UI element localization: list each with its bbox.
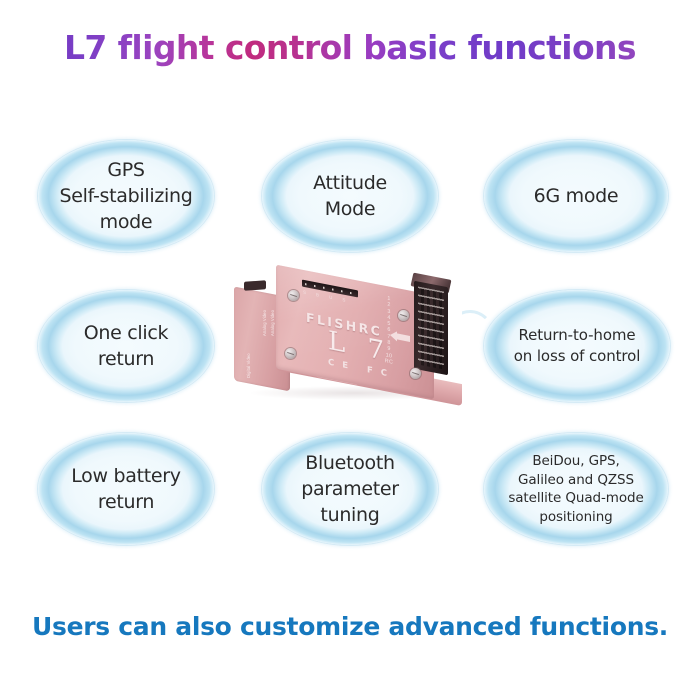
product-side-label-1: Analog Video [262,310,267,336]
feature-bubble-label: 6G mode [526,183,627,209]
product-image-flishrc-l7: Analog Video Analog Video Digital Video … [232,274,476,406]
feature-bubble-bluetooth-parameter-tuning[interactable]: Bluetooth parameter tuning [262,433,438,545]
product-side-port [244,280,266,291]
feature-bubble-return-to-home[interactable]: Return-to-home on loss of control [484,290,670,402]
product-screw [398,310,409,321]
feature-bubble-one-click-return[interactable]: One click return [38,290,214,402]
feature-bubble-label: Attitude Mode [305,170,395,222]
product-screw [285,348,296,359]
product-screw [288,290,299,301]
product-screw [410,368,421,379]
feature-bubble-label: GPS Self-stabilizing mode [52,157,201,235]
product-pin-header [414,281,448,376]
feature-bubble-attitude-mode[interactable]: Attitude Mode [262,140,438,252]
feature-bubble-6g-mode[interactable]: 6G mode [484,140,668,252]
feature-bubble-gps-self-stabilizing-mode[interactable]: GPS Self-stabilizing mode [38,140,214,252]
footer-note: Users can also customize advanced functi… [0,612,700,641]
feature-bubble-satellite-positioning[interactable]: BeiDou, GPS, Galileo and QZSS satellite … [484,433,668,545]
page-title: L7 flight control basic functions [0,26,700,70]
product-side-label-2: Analog Video [270,310,275,336]
feature-bubble-label: BeiDou, GPS, Galileo and QZSS satellite … [500,452,651,526]
feature-bubble-label: Low battery return [63,463,189,515]
feature-bubble-label: Return-to-home on loss of control [506,325,649,367]
feature-bubble-label: Bluetooth parameter tuning [293,450,407,528]
feature-bubble-label: One click return [76,320,176,372]
feature-bubble-low-battery-return[interactable]: Low battery return [38,433,214,545]
product-side-label-3: Digital Video [246,353,251,378]
